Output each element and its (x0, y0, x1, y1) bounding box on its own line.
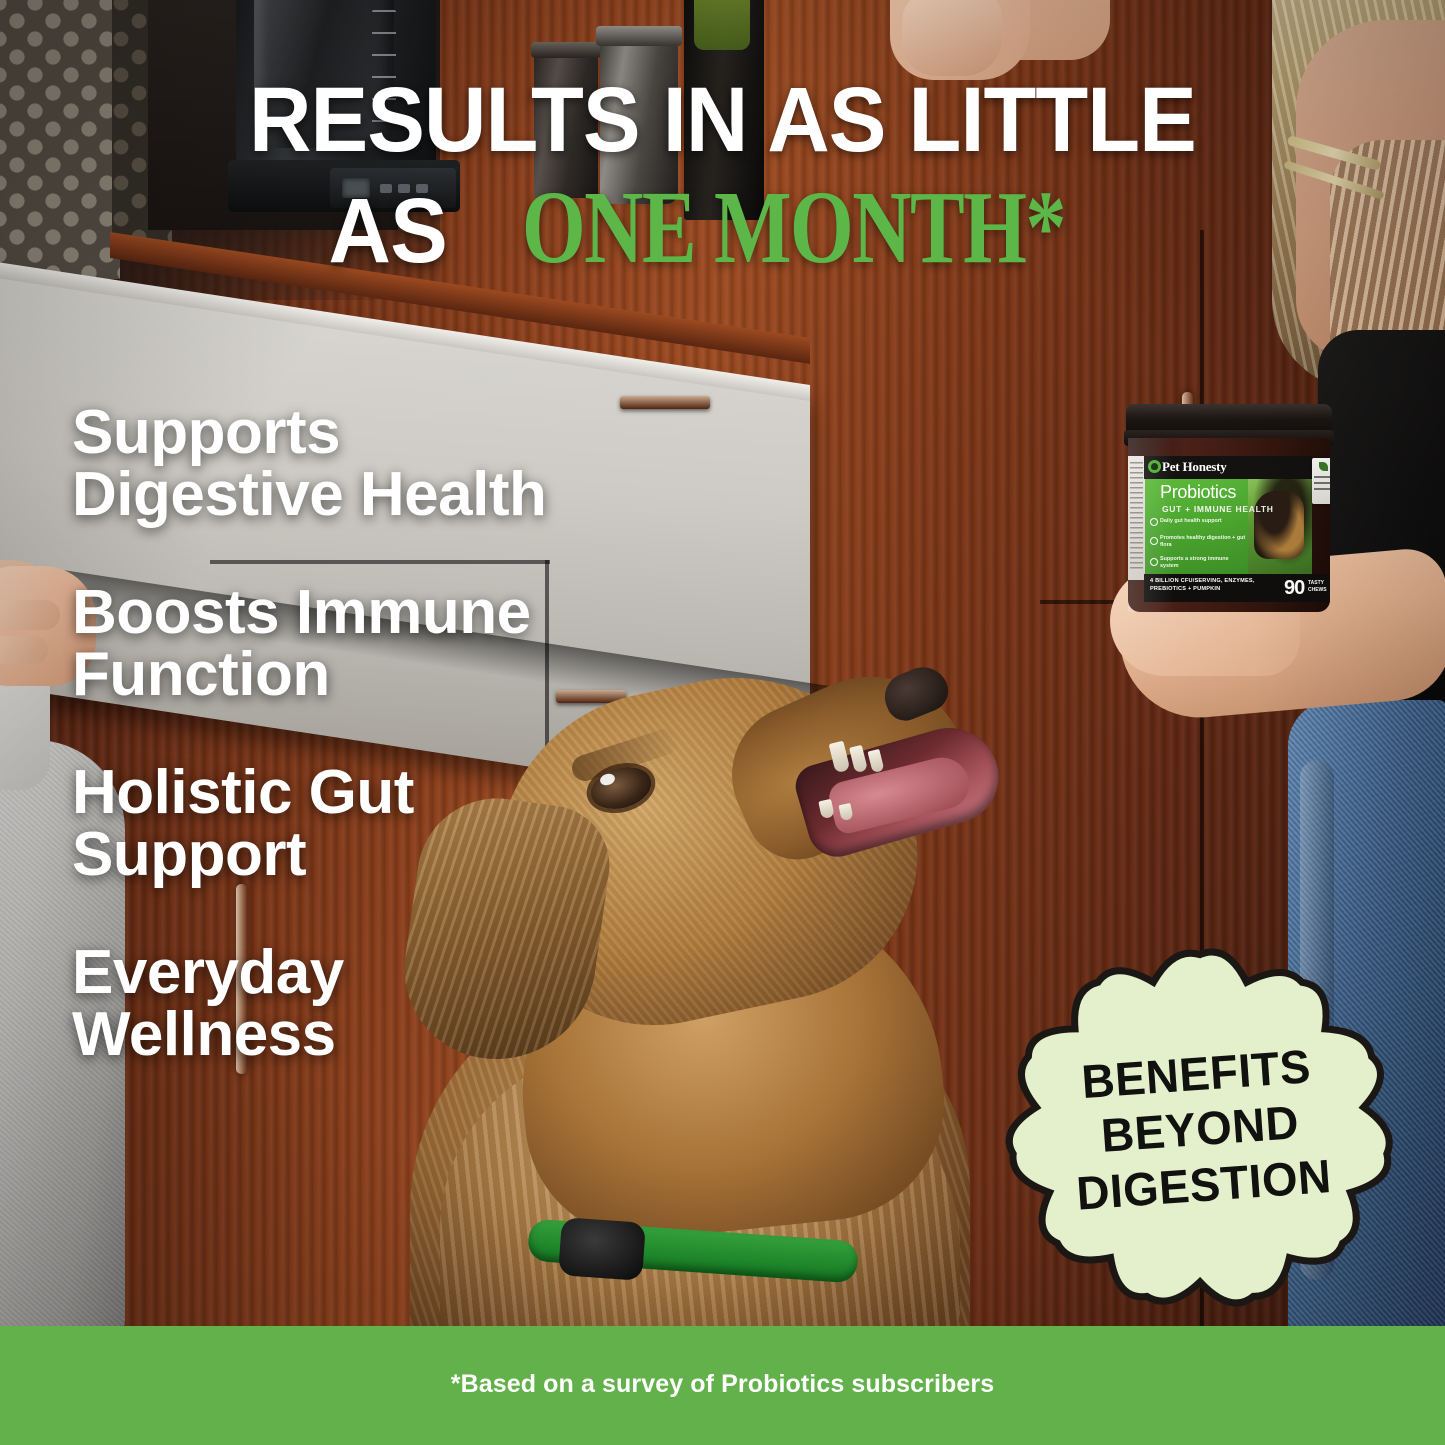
benefit-line: Support (72, 824, 692, 886)
benefit-line: Digestive Health (72, 464, 692, 526)
footer-disclaimer: *Based on a survey of Probiotics subscri… (0, 1370, 1445, 1399)
headline-line-2-prefix: AS (329, 180, 470, 282)
benefit-line: Everyday (72, 942, 692, 1004)
headline-line-2: AS ONE MONTH* (43, 178, 1401, 278)
benefits-beyond-digestion-badge: BENEFITS BEYOND DIGESTION (1000, 940, 1400, 1318)
check-icon (1150, 518, 1158, 526)
jar-label-dog-photo (1248, 479, 1312, 574)
headline: RESULTS IN AS LITTLE AS ONE MONTH* (43, 76, 1401, 278)
seal-text-line (1314, 476, 1330, 478)
benefit-line: Boosts Immune (72, 582, 692, 644)
jar-bullet-3: Supports a strong immune system (1160, 556, 1246, 570)
check-icon (1150, 558, 1158, 566)
jar-label-side-text-lines (1130, 462, 1143, 572)
product-ad-image: Pet Honesty Probiotics GUT + IMMUNE HEAL… (0, 0, 1445, 1445)
green-produce (694, 0, 750, 50)
benefit-item-gut-support: Holistic GutSupport (72, 762, 692, 886)
jar-product-name: Probiotics (1160, 482, 1236, 503)
benefit-item-immune-function: Boosts ImmuneFunction (72, 582, 692, 706)
product-jar[interactable]: Pet Honesty Probiotics GUT + IMMUNE HEAL… (1124, 404, 1336, 612)
benefit-item-everyday-wellness: EverydayWellness (72, 942, 692, 1066)
hand-finger (0, 600, 60, 630)
jar-body: Pet Honesty Probiotics GUT + IMMUNE HEAL… (1128, 438, 1330, 612)
jar-bullet-1: Daily gut health support (1160, 518, 1246, 525)
headline-accent-one-month: ONE MONTH* (522, 178, 1065, 278)
benefit-line: Wellness (72, 1004, 692, 1066)
hand-finger (0, 636, 48, 664)
jar-count-unit: TASTY CHEWS (1308, 580, 1330, 593)
check-icon (1150, 537, 1158, 545)
paw-icon (1151, 463, 1158, 470)
benefit-line: Function (72, 644, 692, 706)
benefit-item-digestive-health: SupportsDigestive Health (72, 402, 692, 526)
jar-count-number: 90 (1284, 577, 1304, 600)
german-shepherd-image (1254, 491, 1304, 559)
benefit-line: Supports (72, 402, 692, 464)
canister-lid (531, 42, 601, 58)
badge-text-block: BENEFITS BEYOND DIGESTION (993, 927, 1406, 1331)
headline-line-1: RESULTS IN AS LITTLE (249, 69, 1196, 171)
benefit-list: SupportsDigestive Health Boosts ImmuneFu… (72, 402, 692, 1066)
jar-brand-name: Pet Honesty (1162, 459, 1227, 475)
moka-pot-lid (596, 26, 682, 46)
jar-claim-text: 4 BILLION CFU/SERVING, ENZYMES, PREBIOTI… (1150, 578, 1272, 593)
leaf-icon (1319, 462, 1328, 471)
seal-text-line (1314, 482, 1330, 484)
benefit-line: Holistic Gut (72, 762, 692, 824)
jar-bullet-2: Promotes healthy digestion + gut flora (1160, 535, 1246, 549)
seal-text-line (1314, 488, 1330, 490)
dog-collar-tag (558, 1217, 646, 1281)
hand-fingers (902, 0, 1002, 76)
jar-product-subtitle: GUT + IMMUNE HEALTH (1162, 504, 1274, 514)
